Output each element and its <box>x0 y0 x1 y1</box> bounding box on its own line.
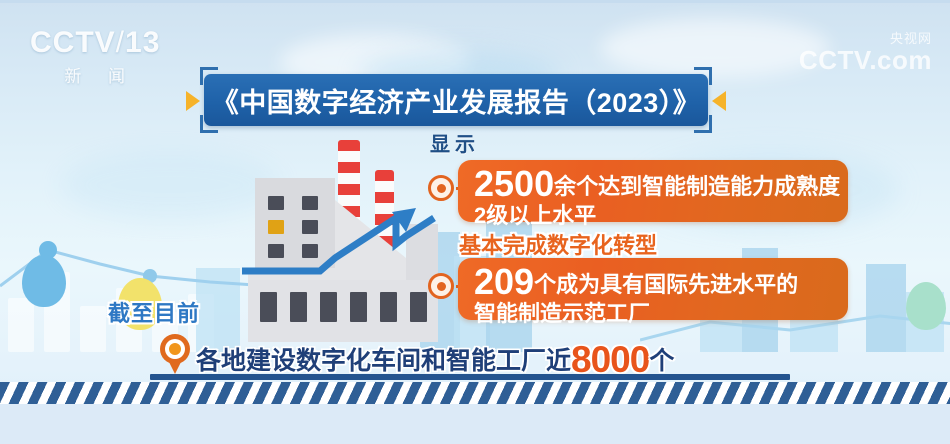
triangle-right-icon <box>186 91 200 111</box>
factory-window <box>320 292 337 322</box>
logo-channel-number: 13 <box>125 26 160 59</box>
watermark-domain: .com <box>869 45 932 75</box>
infographic-canvas: CCTV/13 新 闻 央视网 CCTV.com 《中国数字经济产业发展报告（2… <box>0 0 950 444</box>
factory-window <box>380 292 397 322</box>
factory-window <box>260 292 277 322</box>
corner-bracket-icon <box>694 67 712 85</box>
top-rule <box>0 0 950 3</box>
stat-line-1: 2500余个达到智能制造能力成熟度 <box>474 164 832 204</box>
stat-line-1: 209个成为具有国际先进水平的 <box>474 262 832 302</box>
cloud-shape <box>600 18 830 78</box>
factory-window <box>410 292 427 322</box>
stat-suffix: 余个达到智能制造能力成熟度 <box>554 174 840 199</box>
pin-dot <box>169 343 181 355</box>
corner-bracket-icon <box>200 67 218 85</box>
balloon-shape <box>906 282 946 330</box>
bottom-suffix: 个 <box>649 347 674 375</box>
triangle-left-icon <box>712 91 726 111</box>
location-pin-icon <box>160 334 190 376</box>
as-of-label: 截至目前 <box>108 296 200 328</box>
watermark-brand: CCTV <box>799 45 869 75</box>
factory-window <box>290 292 307 322</box>
stat-line-2: 智能制造示范工厂 <box>474 302 832 327</box>
stat-card-2: 209个成为具有国际先进水平的 智能制造示范工厂 <box>458 258 848 320</box>
cctv13-logo: CCTV/13 新 闻 <box>30 28 160 87</box>
cctv-com-watermark: 央视网 CCTV.com <box>799 28 932 73</box>
logo-slash: / <box>116 26 125 59</box>
bottom-underline <box>150 374 790 380</box>
report-title-banner: 《中国数字经济产业发展报告（2023）》 <box>186 74 726 126</box>
logo-subtitle: 新 闻 <box>30 62 160 87</box>
corner-bracket-icon <box>200 115 218 133</box>
stat-card-1: 2500余个达到智能制造能力成熟度 2级以上水平 <box>458 160 848 222</box>
page-title: 《中国数字经济产业发展报告（2023）》 <box>212 81 701 120</box>
factory-illustration <box>210 140 470 355</box>
logo-cctv-text: CCTV <box>30 26 116 59</box>
bullseye-marker-icon <box>428 273 454 299</box>
transform-caption: 基本完成数字化转型 <box>459 228 657 260</box>
factory-window <box>350 292 367 322</box>
bottom-prefix: 各地建设数字化车间和智能工厂近 <box>196 347 571 375</box>
footer-band <box>0 404 950 444</box>
title-plate: 《中国数字经济产业发展报告（2023）》 <box>204 74 708 126</box>
balloon-shape <box>22 255 66 307</box>
bg-bar <box>80 306 106 352</box>
corner-bracket-icon <box>694 115 712 133</box>
stat-line-2: 2级以上水平 <box>474 204 832 229</box>
stat-number: 209 <box>474 261 534 302</box>
striped-divider <box>0 382 950 404</box>
stat-number: 2500 <box>474 163 554 204</box>
stat-suffix: 个成为具有国际先进水平的 <box>534 272 798 297</box>
bullseye-marker-icon <box>428 175 454 201</box>
